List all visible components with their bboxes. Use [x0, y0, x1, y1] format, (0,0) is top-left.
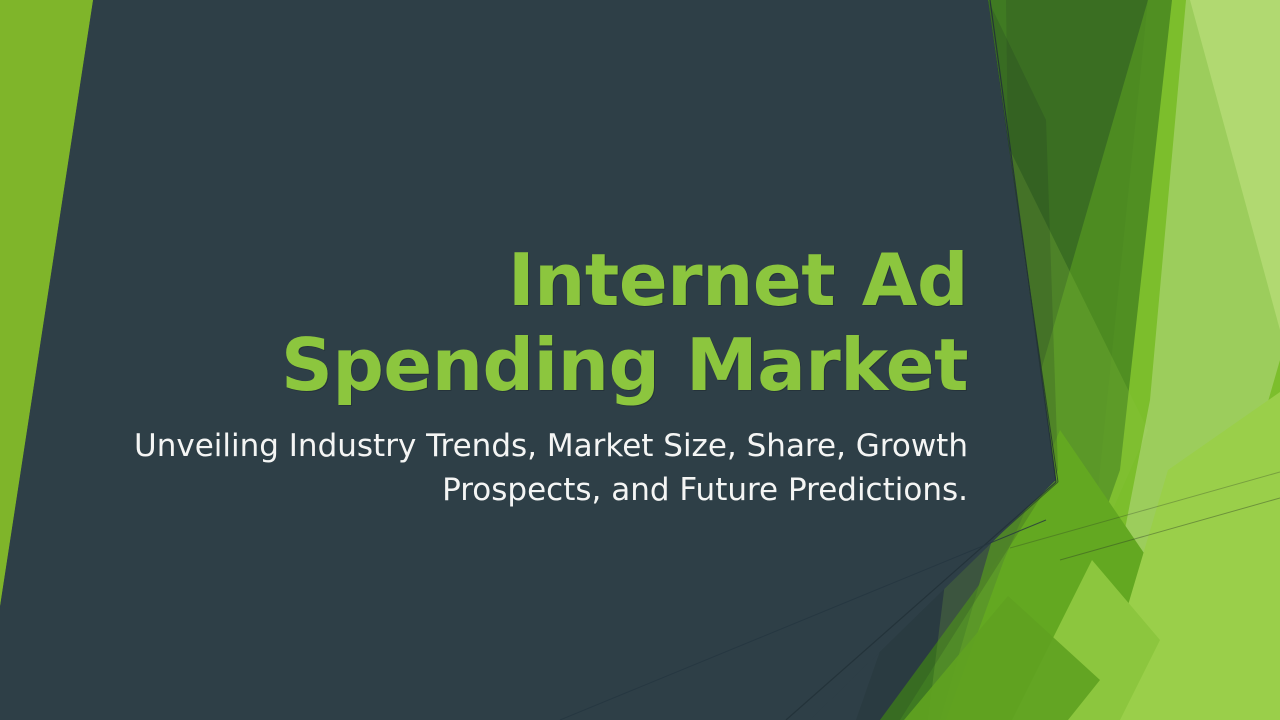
facet-translucent-pale-sheet	[1088, 0, 1280, 720]
page-title: Internet Ad Spending Market	[110, 238, 968, 408]
facet-stroke-upper-diagonal	[988, 6, 1058, 482]
facet-grass-column	[1052, 0, 1280, 720]
facet-stroke-lower-diagonal	[790, 482, 1058, 720]
facet-stroke-horizon	[1060, 498, 1280, 560]
facet-stroke-cross	[1010, 472, 1280, 548]
left-green-wedge	[0, 0, 93, 606]
panel-stroke-right-edge	[990, 0, 1056, 482]
facet-mid-green-panel	[946, 430, 1176, 720]
panel-stroke-long-diagonal	[560, 520, 1046, 720]
facet-pale-lime-column	[1090, 0, 1280, 720]
panel-stroke-lower-sweep	[786, 482, 1056, 720]
facet-forest-triangle	[1006, 0, 1148, 520]
facet-bottom-wash	[904, 596, 1100, 720]
facet-deep-green-wedge	[940, 0, 1172, 720]
title-text-block: Internet Ad Spending Market Unveiling In…	[110, 238, 968, 513]
facet-lime-flare	[1094, 392, 1280, 720]
slide-canvas: Internet Ad Spending Market Unveiling In…	[0, 0, 1280, 720]
page-subtitle: Unveiling Industry Trends, Market Size, …	[110, 424, 968, 513]
facet-bright-sliver	[1012, 560, 1160, 720]
left-green-wedge-top	[0, 0, 93, 606]
